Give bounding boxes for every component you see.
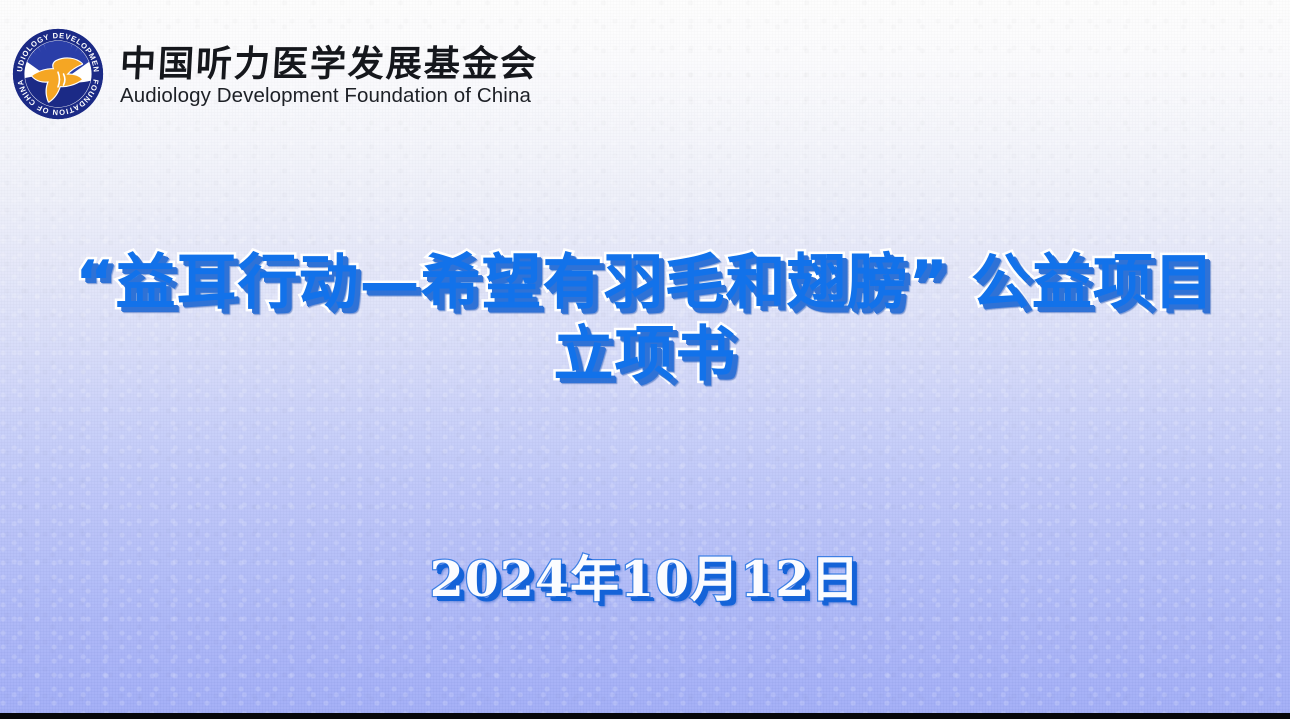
slide-date: 2024年10月12日	[0, 550, 1290, 608]
slide-title-line-1: “益耳行动—希望有羽毛和翅膀” 公益项目	[0, 247, 1290, 319]
organization-name-chinese: 中国听力医学发展基金会	[119, 44, 539, 84]
slide-title: “益耳行动—希望有羽毛和翅膀” 公益项目 立项书	[0, 247, 1290, 391]
organization-name-english: Audiology Development Foundation of Chin…	[120, 84, 538, 108]
bottom-letterbox-bar	[0, 713, 1290, 719]
organization-logo: AUDIOLOGY DEVELOPMENT FOUNDATION OF CHIN…	[12, 28, 538, 120]
slide-title-line-2: 立项书	[0, 319, 1290, 391]
title-slide: AUDIOLOGY DEVELOPMENT FOUNDATION OF CHIN…	[0, 0, 1290, 719]
slide-date-text: 2024年10月12日	[0, 550, 1290, 608]
organization-name-block: 中国听力医学发展基金会 Audiology Development Founda…	[120, 40, 538, 108]
audiology-foundation-emblem-icon: AUDIOLOGY DEVELOPMENT FOUNDATION OF CHIN…	[12, 28, 104, 120]
